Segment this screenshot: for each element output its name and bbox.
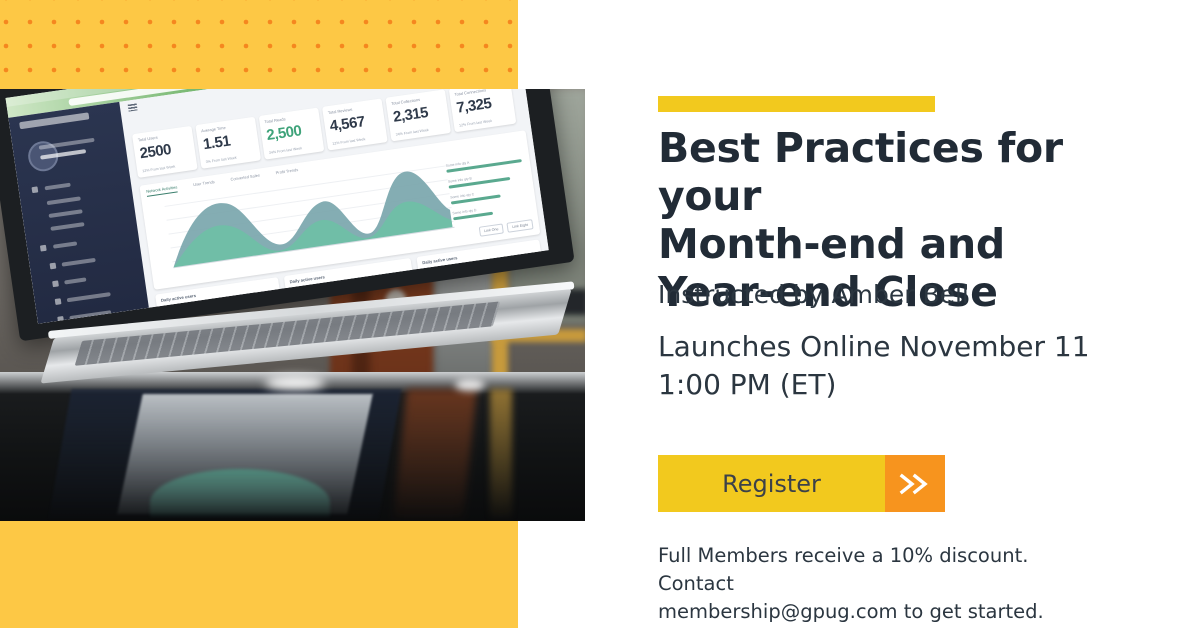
kpi-card: Total Reads 2,500 34% From last Week — [259, 108, 325, 160]
donut-header-shares: Online/shares — [321, 294, 342, 301]
content-column: Best Practices for your Month-end and Ye… — [658, 0, 1128, 628]
legend-item: Some info qty D — [452, 200, 530, 220]
card-subtitle: Sessions — [162, 303, 175, 309]
sidebar-item-dashboard3 — [50, 222, 84, 231]
sidebar-item-home — [45, 183, 71, 191]
laptop: Total Users 2500 12% From last Week Aver… — [0, 91, 585, 391]
dot-pattern-panel — [0, 0, 518, 89]
kpi-value: 1.51 — [202, 133, 231, 154]
kpi-sub: 12% From last Week — [459, 119, 493, 128]
kpi-label: Total Users — [138, 135, 159, 143]
ui-elements-icon — [50, 263, 57, 270]
register-button-label: Register — [722, 470, 821, 498]
kpi-card: Total Connections 7,325 12% From last We… — [449, 89, 517, 132]
kpi-card: Total Collections 2,315 34% From last We… — [385, 89, 451, 141]
kpi-value: 2500 — [139, 141, 172, 162]
accent-bar — [658, 96, 935, 112]
link-one-button[interactable]: Link One — [479, 223, 505, 236]
chart-legend: Some info qty A Some info qty B Some inf… — [445, 153, 531, 227]
link-eight-button[interactable]: Link Eight — [507, 219, 534, 233]
donut-header-top5: Top 5 — [292, 300, 301, 305]
kpi-label: Total Reviews — [328, 107, 353, 115]
title-line-1: Best Practices for your — [658, 124, 1063, 220]
card-title: Daily active users — [422, 255, 458, 265]
sidebar-item-data-presentation — [67, 292, 111, 302]
launch-time: 1:00 PM (ET) — [658, 368, 836, 401]
membership-note: Full Members receive a 10% discount. Con… — [658, 542, 1108, 626]
instructor-line: Instructed by Amber Bell — [658, 280, 969, 309]
laptop-screen: Total Users 2500 12% From last Week Aver… — [6, 89, 549, 324]
logo-panel: Academy POWERED BY DYNAMIC COMMUNITIES — [0, 521, 518, 628]
sidebar-item-forms — [53, 241, 77, 248]
door-reflection — [393, 389, 477, 519]
data-presentation-icon — [55, 298, 62, 305]
list-item: Settings — [428, 282, 440, 288]
membership-note-line-1: Full Members receive a 10% discount. Con… — [658, 544, 1028, 595]
dashboard: Total Users 2500 12% From last Week Aver… — [8, 89, 548, 324]
sidebar-item-dashboard2 — [48, 209, 82, 218]
card-title: Daily active users — [289, 274, 325, 284]
card-title: Daily active users — [161, 293, 197, 303]
dashboard-sidebar — [8, 102, 149, 324]
kpi-sub: 3% From last Week — [205, 156, 237, 164]
card-subtitle: Sessions — [290, 284, 303, 290]
register-button[interactable]: Register — [658, 455, 945, 512]
tab-profit-trends[interactable]: Profit Trends — [275, 167, 299, 178]
kpi-label: Total Reads — [264, 116, 286, 124]
kpi-value: 7,325 — [455, 95, 492, 117]
launch-date: Launches Online November 11 — [658, 330, 1090, 363]
hamburger-menu-icon[interactable] — [128, 103, 138, 111]
membership-note-line-2: membership@gpug.com to get started. — [658, 600, 1044, 623]
register-button-body[interactable]: Register — [658, 455, 885, 512]
kpi-sub: 12% From last Week — [332, 137, 366, 146]
kpi-value: 2,315 — [392, 104, 429, 126]
kpi-sub: 34% From last Week — [269, 146, 303, 155]
donut-header-progress: Progress — [396, 284, 410, 290]
tab-network-activities[interactable]: Network Activities — [146, 184, 178, 196]
tab-converted-sales[interactable]: Converted Sales — [230, 173, 260, 185]
kpi-value: 2,500 — [265, 122, 302, 144]
tables-icon — [52, 280, 59, 287]
welcome-text — [39, 138, 95, 150]
sidebar-item-tables — [64, 277, 86, 284]
sidebar-item-additional-pages — [69, 310, 111, 320]
home-icon — [31, 186, 38, 193]
title-line-2: Month-end and — [658, 220, 1005, 268]
kpi-label: Average Time — [201, 125, 226, 133]
sidebar-item-ui-elements — [62, 258, 96, 267]
dot-grid — [0, 0, 518, 89]
shelf-reflection — [490, 389, 512, 519]
kpi-value: 4,567 — [329, 113, 366, 135]
kpi-sub: 34% From last Week — [395, 128, 429, 137]
tab-user-trends[interactable]: User Trends — [193, 179, 216, 190]
kpi-sub: 12% From last Week — [142, 165, 176, 174]
kpi-card: Average Time 1.51 3% From last Week — [195, 117, 261, 169]
double-chevron-right-icon — [898, 473, 932, 495]
kpi-card: Total Users 2500 12% From last Week — [132, 126, 198, 178]
sidebar-item-dashboard — [47, 196, 81, 205]
register-button-arrow[interactable] — [885, 455, 945, 512]
forms-icon — [40, 245, 47, 252]
launch-details: Launches Online November 11 1:00 PM (ET) — [658, 328, 1098, 404]
additional-pages-icon — [57, 316, 64, 323]
card-subtitle: Sessions — [423, 265, 436, 271]
laptop-photo: Total Users 2500 12% From last Week Aver… — [0, 89, 585, 521]
dashboard-brand — [19, 112, 89, 129]
promo-canvas: Total Users 2500 12% From last Week Aver… — [0, 0, 1200, 628]
kpi-card: Total Reviews 4,567 12% From last Week — [322, 98, 388, 150]
